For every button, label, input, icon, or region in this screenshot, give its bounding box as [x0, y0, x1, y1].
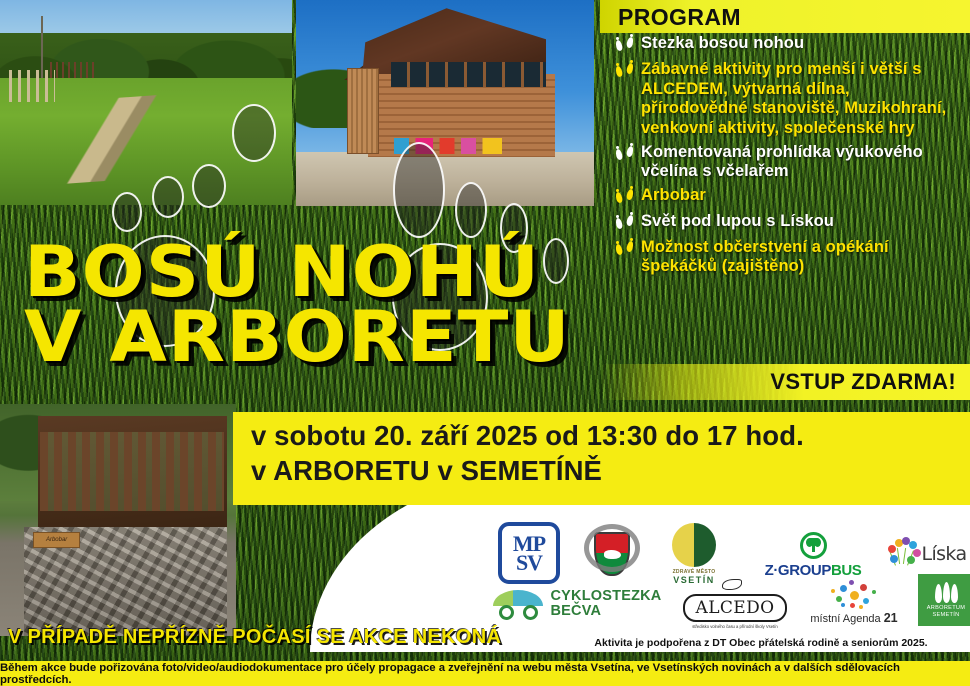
support-notice: Aktivita je podpořena z DT Obec přátelsk…	[556, 637, 966, 649]
mpsv-bottom-text: SV	[516, 553, 542, 572]
poster-canvas: Arbobar PROGRAM Stezka bosou nohou Zába	[0, 0, 970, 686]
program-heading-bar: PROGRAM	[600, 0, 970, 33]
event-date-line: v sobotu 20. září 2025 od 13:30 do 17 ho…	[251, 419, 970, 454]
footprints-icon	[616, 37, 633, 56]
alcedo-label: ALCEDO	[696, 598, 775, 618]
photo-barefoot-path	[0, 0, 292, 205]
cyklostezka-label: CYKLOSTEZKA	[551, 589, 662, 604]
program-item-label: Možnost občerstvení a opékání špekáčků (…	[641, 238, 960, 277]
arboretum-label: ARBORETUM	[927, 605, 965, 611]
disclaimer-text: Během akce bude pořizována foto/video/au…	[0, 662, 970, 686]
logo-vsetin-crest	[582, 522, 642, 586]
program-heading: PROGRAM	[618, 4, 741, 31]
arbobar-sign-label: Arbobar	[33, 532, 80, 548]
logo-alcedo: ALCEDO středisko volného času a přírodní…	[680, 576, 790, 630]
footprints-icon	[616, 215, 633, 234]
weather-notice: V PŘÍPADĚ NEPŘÍZNĚ POČASÍ SE AKCE NEKONÁ	[8, 626, 501, 649]
event-date-band: v sobotu 20. září 2025 od 13:30 do 17 ho…	[233, 412, 970, 505]
semetin-label: SEMETÍN	[933, 612, 960, 618]
dots-circle-icon	[830, 579, 878, 611]
program-item: Stezka bosou nohou	[600, 33, 970, 59]
bicycle-icon	[493, 586, 547, 622]
sponsor-logo-group: MP SV ZDRAVÉ MĚSTO VSETÍN Z·GROUPBUS	[486, 518, 970, 630]
logo-arboretum-semetin: ARBORETUM SEMETÍN	[918, 574, 970, 626]
liska-label: Líska	[921, 543, 966, 565]
alcedo-sublabel: středisko volného času a přírodní školy …	[692, 624, 777, 629]
logo-mpsv: MP SV	[498, 522, 560, 584]
agenda-label: místní Agenda	[810, 613, 883, 625]
footprints-icon	[616, 63, 633, 82]
program-item: Svět pod lupou s Lískou	[600, 211, 970, 237]
program-item-label: Stezka bosou nohou	[641, 34, 804, 54]
logo-cyklostezka-becva: CYKLOSTEZKA BEČVA	[492, 580, 662, 628]
photo-arbobar-balcony: Arbobar	[0, 404, 236, 636]
program-item: Arbobar	[600, 185, 970, 211]
logo-mistni-agenda-21: místní Agenda 21	[804, 574, 904, 630]
tree-circle-icon	[800, 532, 827, 559]
program-item: Komentovaná prohlídka výukového včelína …	[600, 142, 970, 185]
footprints-icon	[616, 189, 633, 208]
program-item-label: Zábavné aktivity pro menší i větší s ALC…	[641, 60, 960, 139]
program-item: Zábavné aktivity pro menší i větší s ALC…	[600, 59, 970, 142]
photo-wooden-apiary	[296, 0, 594, 206]
program-item-label: Svět pod lupou s Lískou	[641, 212, 834, 232]
free-entry-label: VSTUP ZDARMA!	[770, 369, 956, 395]
title-line-2: V ARBORETU	[24, 305, 660, 370]
poster-title: BOSÚ NOHÚ V ARBORETU	[24, 240, 624, 370]
footprints-icon	[616, 146, 633, 165]
crest-wreath-icon	[584, 524, 640, 572]
program-item-label: Komentovaná prohlídka výukového včelína …	[641, 143, 960, 182]
event-place-line: v ARBORETU v SEMETÍNĚ	[251, 454, 970, 489]
flowers-icon	[887, 536, 919, 572]
agenda-number: 21	[884, 611, 898, 625]
becva-label: BEČVA	[551, 604, 662, 619]
bottom-disclaimer-strip: Během akce bude pořizována foto/video/au…	[0, 661, 970, 686]
program-item-label: Arbobar	[641, 186, 706, 206]
healthy-city-icon	[672, 523, 716, 567]
kingfisher-icon	[718, 577, 752, 593]
leaves-icon	[933, 582, 959, 602]
